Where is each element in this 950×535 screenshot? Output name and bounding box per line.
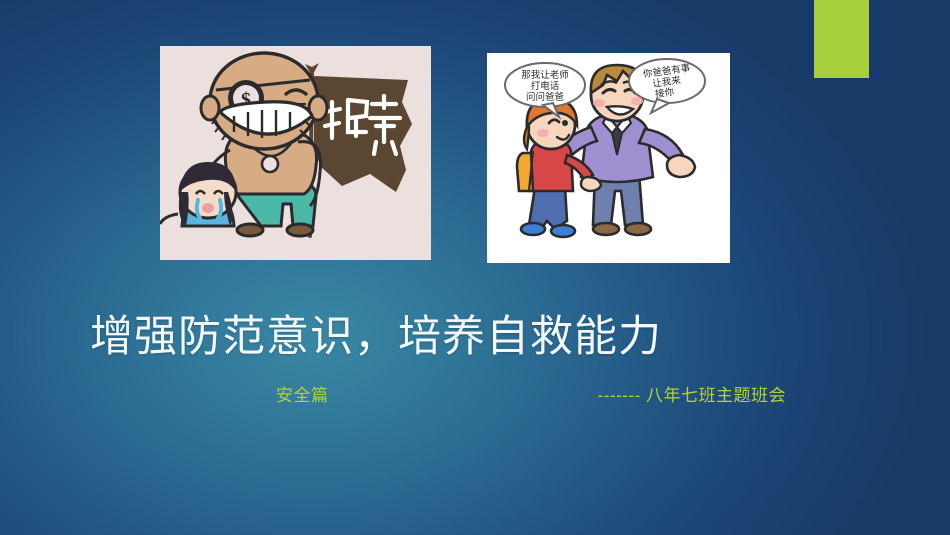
subtitle-class: ------- 八年七班主题班会 [598,381,786,406]
slide-title: 增强防范意识，培养自救能力 [90,313,710,362]
svg-text:打电话: 打电话 [531,80,560,92]
image-abduction-cartoon: $ [160,46,431,260]
svg-text:问问爸爸: 问问爸爸 [526,91,565,103]
image-stranger-danger-cartoon: 那我让老师 打电话 问问爸爸 你爸爸有事 让我来 接你 [487,53,730,263]
presentation-slide: $ [0,0,950,535]
svg-text:那我让老师: 那我让老师 [521,69,569,81]
green-accent-block [814,0,869,78]
subtitle-topic: 安全篇 [276,381,329,406]
slide-subtitle-row: 安全篇 ------- 八年七班主题班会 [276,381,786,406]
